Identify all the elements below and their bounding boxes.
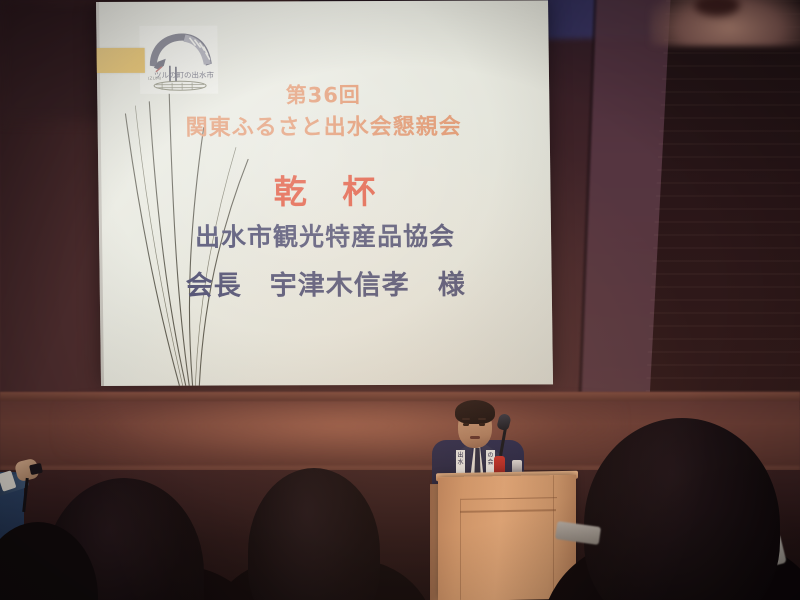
speaker-brow-left xyxy=(462,418,470,420)
projection-screen: ツルの町の出水市 IZUMI 第36回 関東ふるさと出水会懇親会 乾 杯 出水市… xyxy=(96,0,553,386)
microphone-icon xyxy=(496,413,512,431)
slide-name-line: 会長 宇津木信孝 様 xyxy=(99,262,552,303)
podium-panel-inset xyxy=(460,497,557,600)
stage-light-pool xyxy=(60,398,620,468)
speaker-eye-left xyxy=(463,423,469,426)
speaker-mouth xyxy=(470,436,480,439)
speaker-hair xyxy=(455,400,495,424)
hand-holding-camera xyxy=(0,452,60,522)
slide-organization-line: 出水市観光特産品協会 xyxy=(99,216,551,254)
slide-toast-line: 乾 杯 xyxy=(98,164,551,214)
podium-edge-line xyxy=(553,475,555,599)
wall-slat-texture xyxy=(644,0,800,430)
slide-title-line: 関東ふるさと出水会懇親会 xyxy=(97,108,549,142)
photo-scene: ツルの町の出水市 IZUMI 第36回 関東ふるさと出水会懇親会 乾 杯 出水市… xyxy=(0,0,800,600)
slide-text-block: 第36回 関東ふるさと出水会懇親会 乾 杯 出水市観光特産品協会 会長 宇津木信… xyxy=(96,0,553,386)
camera-device-icon xyxy=(29,463,43,475)
happi-text-left: 出水 xyxy=(456,452,465,466)
speaker-eye-right xyxy=(479,423,485,426)
speaker-brow-right xyxy=(478,418,486,420)
stage-upper-rail xyxy=(0,392,800,401)
slide-edition-line: 第36回 xyxy=(97,78,549,110)
